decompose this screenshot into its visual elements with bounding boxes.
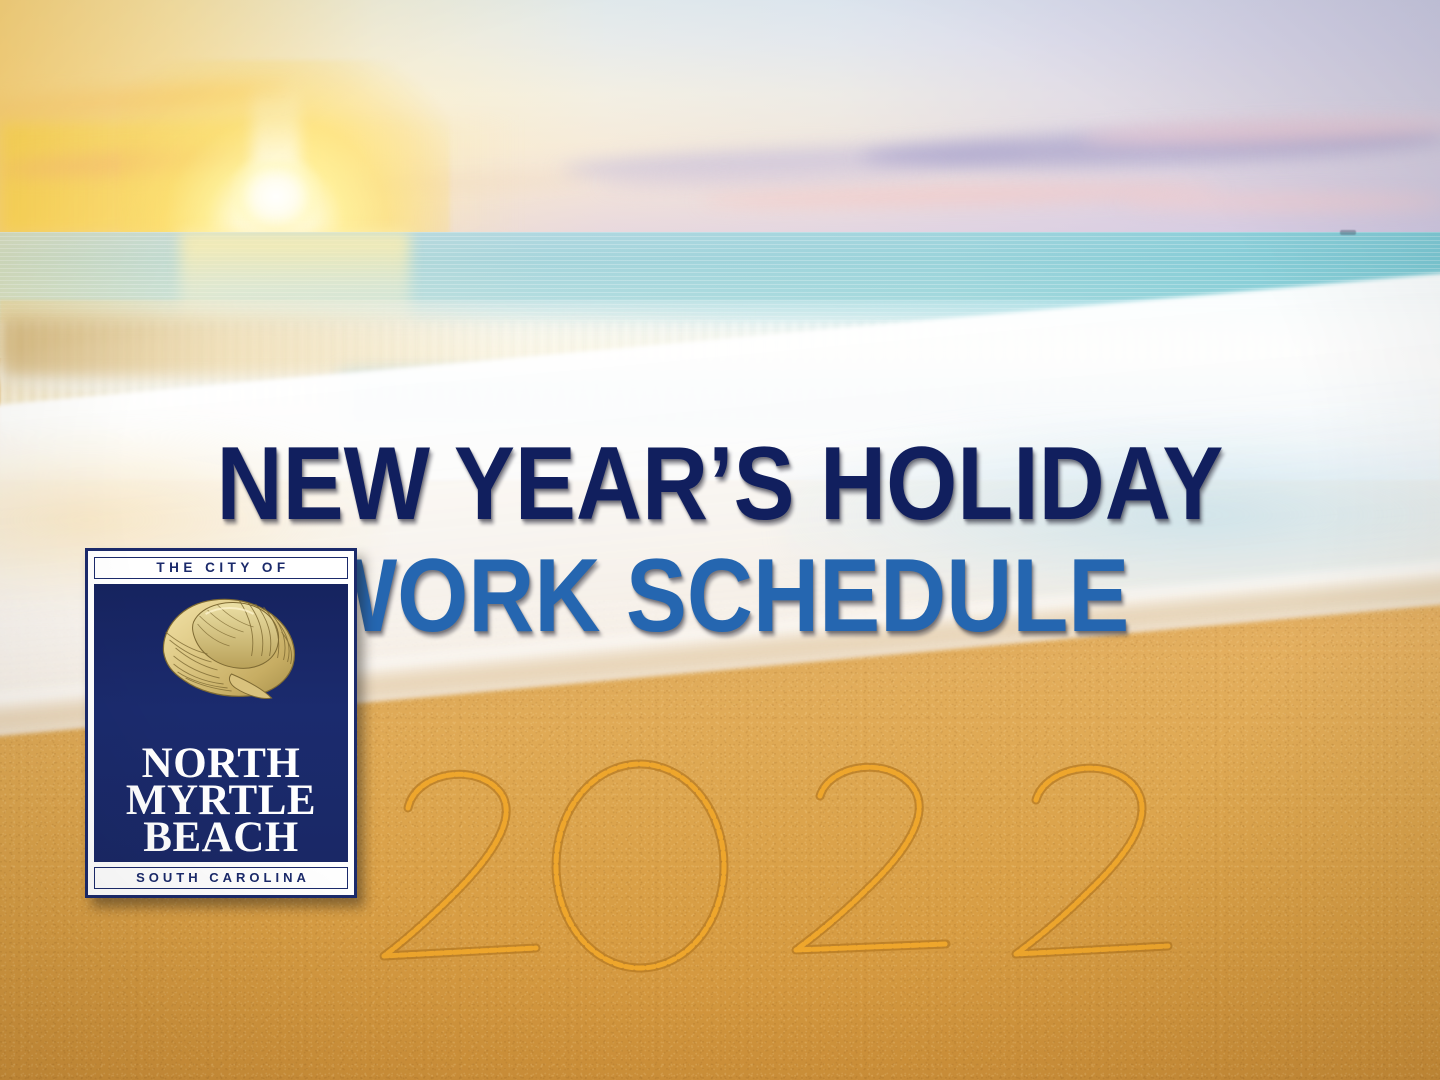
logo-emblem-panel: NORTH MYRTLE BEACH [94, 584, 348, 862]
year-written-in-sand [368, 748, 1228, 998]
logo-top-band: THE CITY OF [94, 557, 348, 579]
distant-boat [1340, 230, 1356, 235]
cloud-streak [1120, 194, 1440, 210]
poster-canvas: NEW YEAR’S HOLIDAY WORK SCHEDULE THE CIT… [0, 0, 1440, 1080]
logo-name-line-3: BEACH [94, 820, 348, 857]
sun-core [232, 160, 320, 236]
logo-bottom-band: SOUTH CAROLINA [94, 867, 348, 889]
city-logo[interactable]: THE CITY OF [85, 548, 357, 898]
conch-shell-icon [136, 588, 314, 712]
logo-city-name: NORTH MYRTLE BEACH [94, 746, 348, 857]
